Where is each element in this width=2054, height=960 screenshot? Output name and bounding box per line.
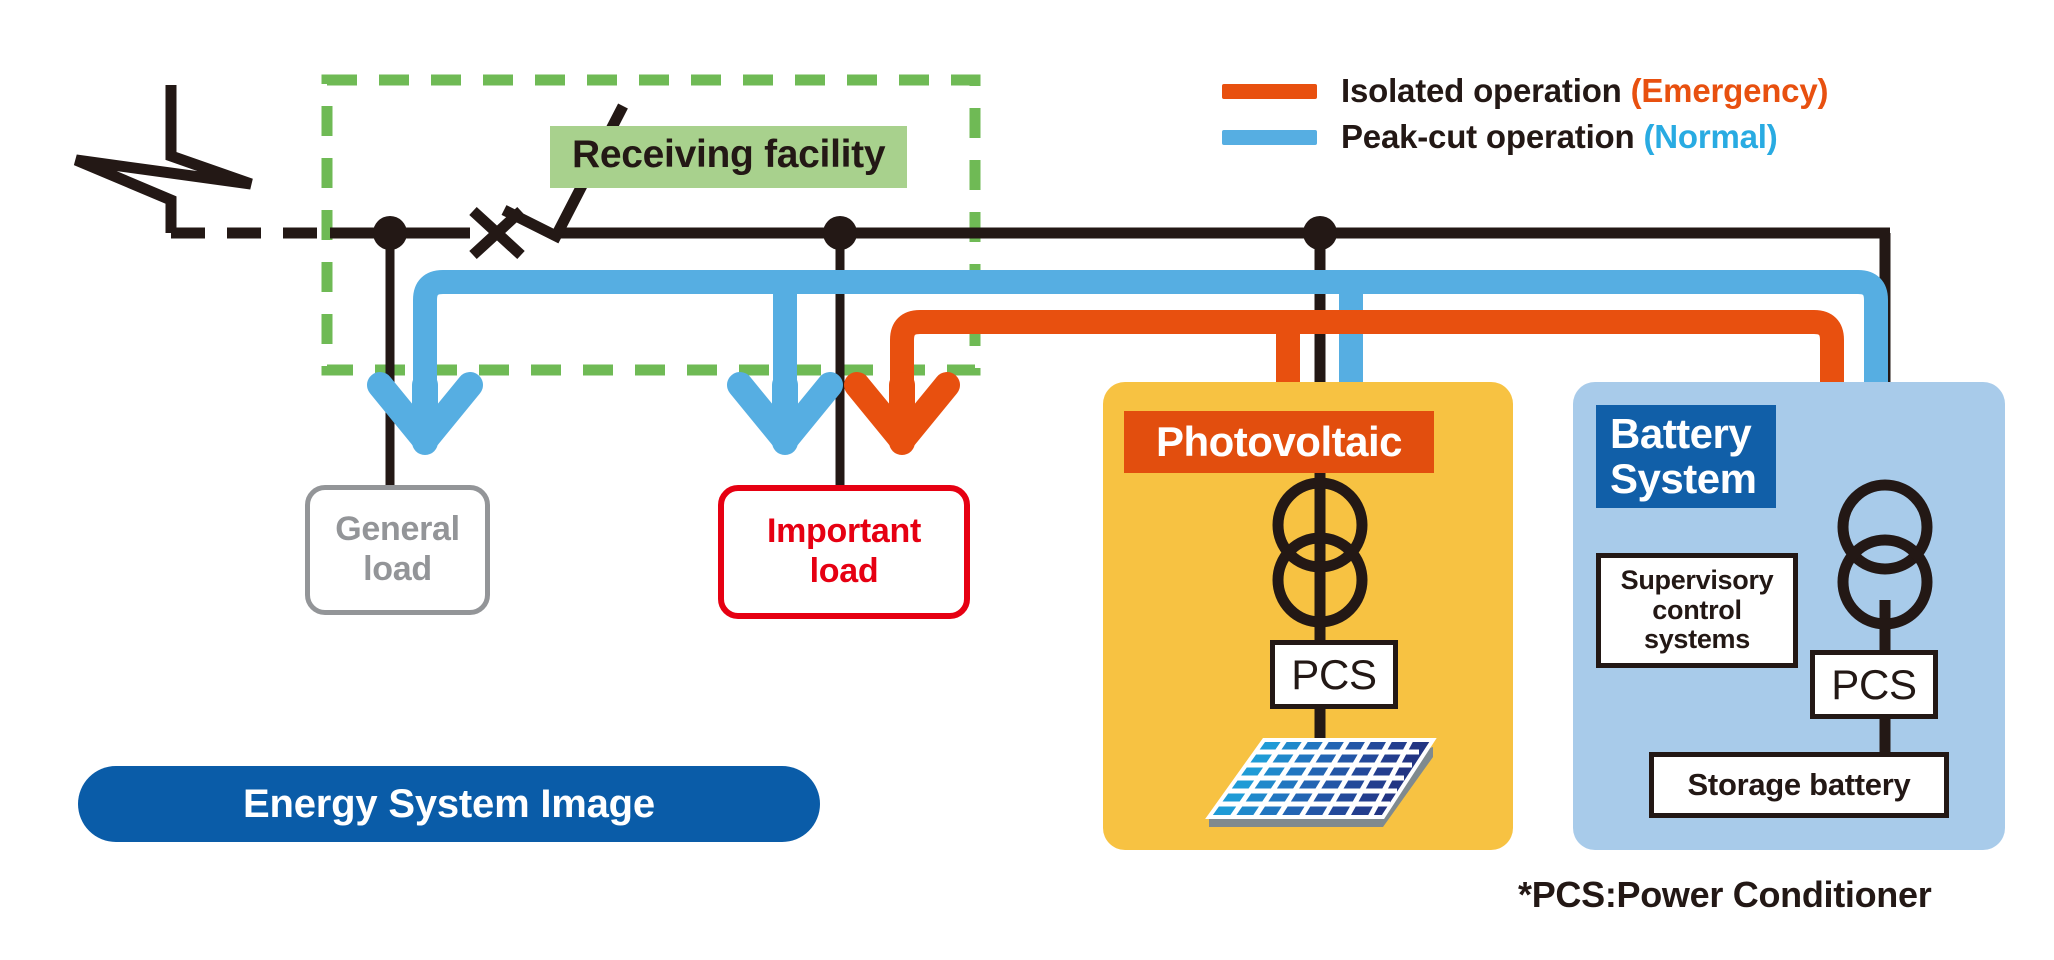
line-swatch-icon <box>1222 130 1317 145</box>
photovoltaic-header: Photovoltaic <box>1124 411 1434 473</box>
legend-label-isolated: Isolated operation <box>1341 72 1631 109</box>
page-title: Energy System Image <box>78 766 820 842</box>
photovoltaic-pcs-box: PCS <box>1270 640 1398 709</box>
line-swatch-icon <box>1222 84 1317 99</box>
legend-item-isolated: Isolated operation (Emergency) <box>1222 68 1828 114</box>
legend-paren-normal: (Normal) <box>1643 118 1777 155</box>
legend: Isolated operation (Emergency) Peak-cut … <box>1222 68 1828 160</box>
footnote-pcs: *PCS:Power Conditioner <box>1518 874 1931 916</box>
solar-panel-icon <box>1209 740 1433 827</box>
supervisory-control-systems-box: Supervisory control systems <box>1596 553 1798 668</box>
battery-pcs-box: PCS <box>1810 650 1938 719</box>
legend-item-peakcut: Peak-cut operation (Normal) <box>1222 114 1828 160</box>
legend-paren-emergency: (Emergency) <box>1631 72 1829 109</box>
legend-label-peakcut: Peak-cut operation <box>1341 118 1643 155</box>
receiving-facility-label: Receiving facility <box>550 126 907 188</box>
battery-system-header: Battery System <box>1596 405 1776 508</box>
general-load-box: General load <box>305 485 490 615</box>
storage-battery-box: Storage battery <box>1649 752 1949 818</box>
energy-system-diagram: Isolated operation (Emergency) Peak-cut … <box>0 0 2054 960</box>
important-load-box: Important load <box>718 485 970 619</box>
